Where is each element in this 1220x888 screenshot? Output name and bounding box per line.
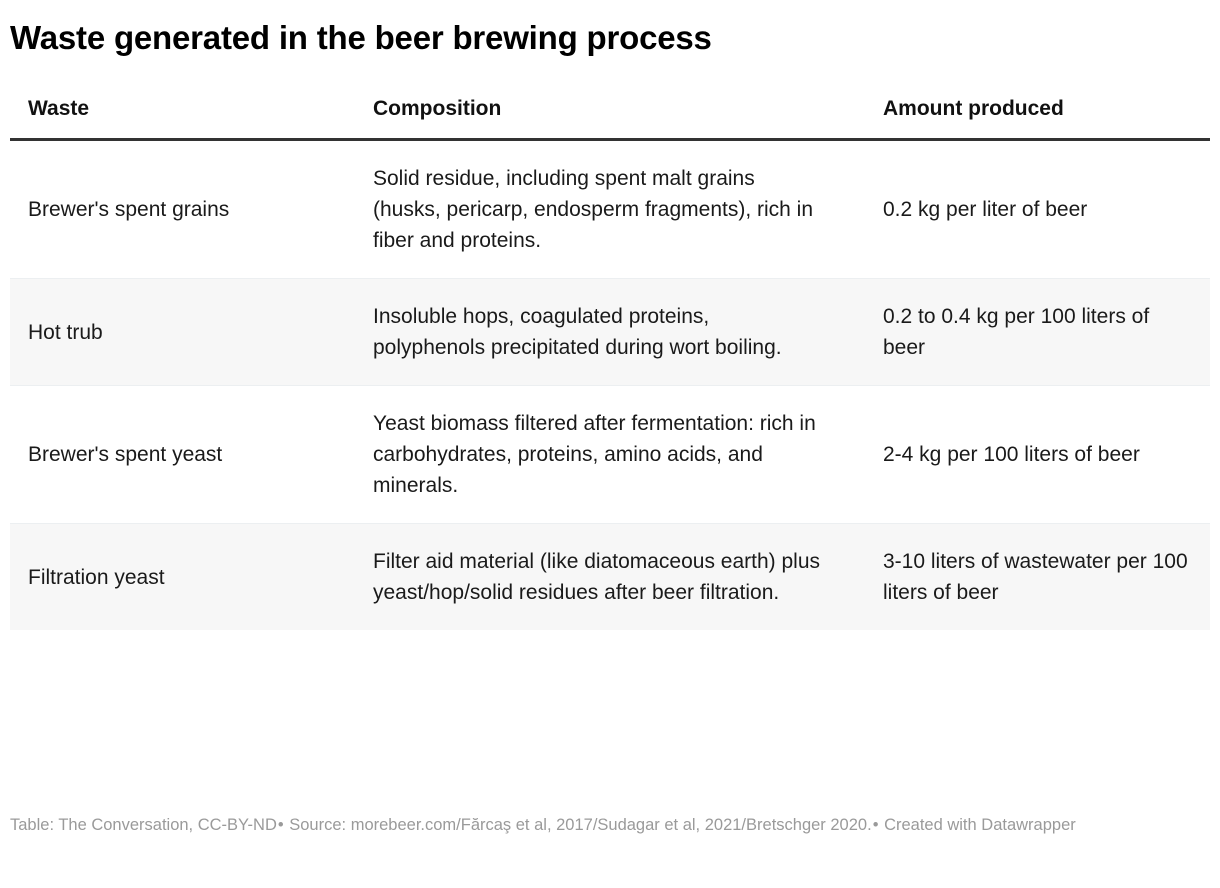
page-title: Waste generated in the beer brewing proc…: [0, 0, 1220, 58]
cell-waste: Brewer's spent grains: [10, 140, 355, 279]
cell-waste: Hot trub: [10, 279, 355, 386]
table-header: Waste Composition Amount produced: [10, 96, 1210, 140]
footer-credits: Table: The Conversation, CC-BY-ND• Sourc…: [10, 812, 1210, 838]
cell-waste: Filtration yeast: [10, 524, 355, 631]
table-row: Hot trub Insoluble hops, coagulated prot…: [10, 279, 1210, 386]
footer-separator: •: [277, 816, 285, 834]
cell-composition: Yeast biomass filtered after fermentatio…: [355, 386, 865, 524]
footer-created-with: Created with Datawrapper: [884, 816, 1076, 834]
cell-amount: 2-4 kg per 100 liters of beer: [865, 386, 1210, 524]
table-page: Waste generated in the beer brewing proc…: [0, 0, 1220, 888]
table-row: Brewer's spent yeast Yeast biomass filte…: [10, 386, 1210, 524]
cell-composition: Filter aid material (like diatomaceous e…: [355, 524, 865, 631]
footer-source: Source: morebeer.com/Fărcaş et al, 2017/…: [289, 816, 871, 834]
column-header-composition: Composition: [355, 96, 865, 140]
cell-amount: 0.2 kg per liter of beer: [865, 140, 1210, 279]
cell-waste: Brewer's spent yeast: [10, 386, 355, 524]
column-header-waste: Waste: [10, 96, 355, 140]
column-header-amount: Amount produced: [865, 96, 1210, 140]
cell-amount: 0.2 to 0.4 kg per 100 liters of beer: [865, 279, 1210, 386]
cell-amount: 3-10 liters of wastewater per 100 liters…: [865, 524, 1210, 631]
table-header-row: Waste Composition Amount produced: [10, 96, 1210, 140]
cell-composition: Insoluble hops, coagulated proteins, pol…: [355, 279, 865, 386]
footer-credit-table: Table: The Conversation, CC-BY-ND: [10, 816, 277, 834]
footer-separator: •: [872, 816, 880, 834]
table-row: Filtration yeast Filter aid material (li…: [10, 524, 1210, 631]
table-row: Brewer's spent grains Solid residue, inc…: [10, 140, 1210, 279]
cell-composition: Solid residue, including spent malt grai…: [355, 140, 865, 279]
waste-table: Waste Composition Amount produced Brewer…: [10, 96, 1210, 630]
table-body: Brewer's spent grains Solid residue, inc…: [10, 140, 1210, 631]
table-container: Waste Composition Amount produced Brewer…: [0, 96, 1220, 630]
